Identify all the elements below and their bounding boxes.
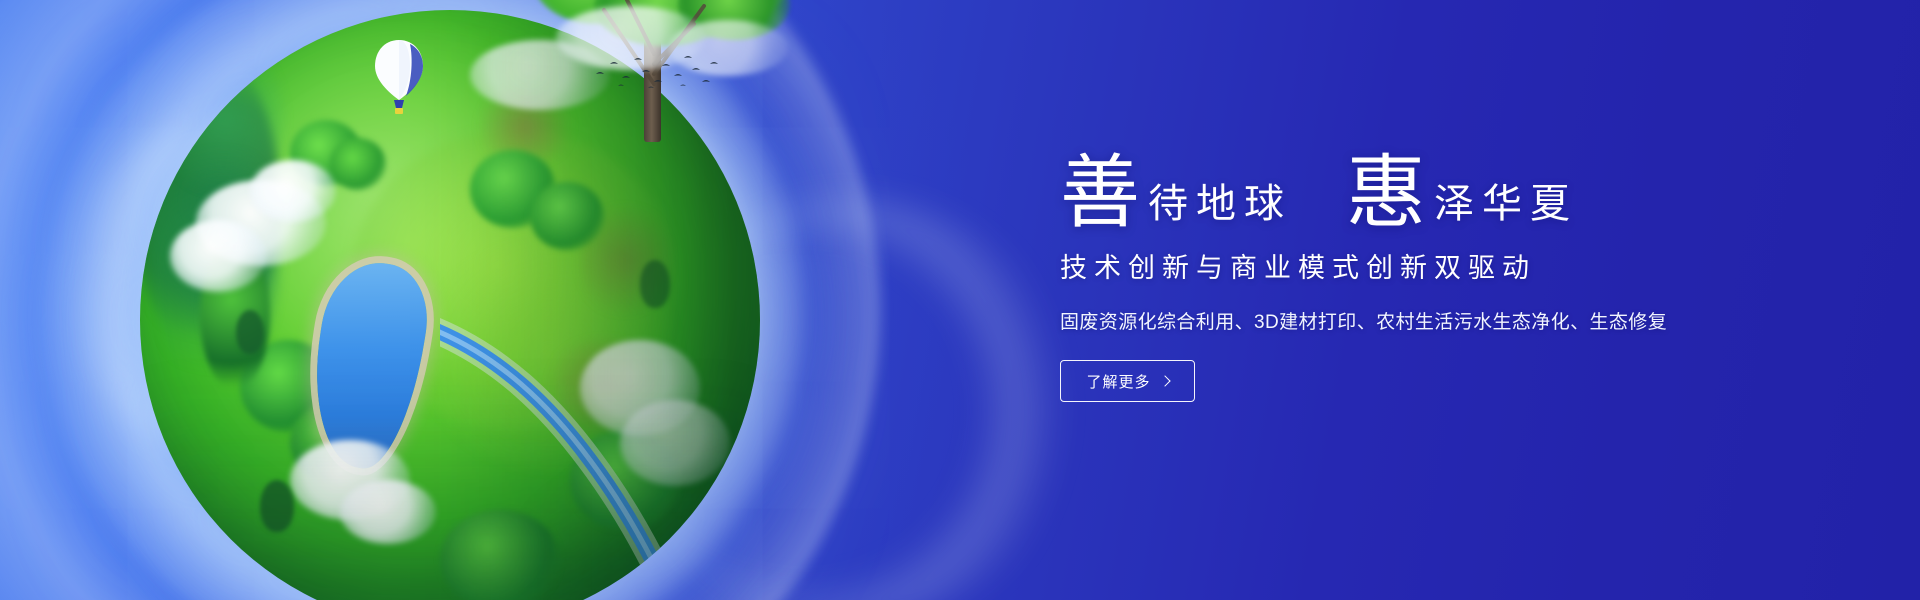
page-title: 善 待地球 惠 泽华夏: [1060, 140, 1780, 232]
headline-phrase2-big: 惠: [1346, 157, 1426, 232]
chevron-right-icon: [1159, 375, 1170, 386]
learn-more-button[interactable]: 了解更多: [1060, 360, 1195, 402]
headline-phrase2-small: 泽华夏: [1426, 184, 1578, 232]
learn-more-label: 了解更多: [1086, 371, 1150, 392]
hero-description: 固废资源化综合利用、3D建材打印、农村生活污水生态净化、生态修复: [1060, 307, 1780, 334]
headline-phrase1-small: 待地球: [1140, 184, 1292, 232]
hero-copy: 善 待地球 惠 泽华夏 技术创新与商业模式创新双驱动 固废资源化综合利用、3D建…: [1060, 140, 1780, 402]
hero-banner: 善 待地球 惠 泽华夏 技术创新与商业模式创新双驱动 固废资源化综合利用、3D建…: [0, 0, 1920, 600]
birds-flock-icon: [592, 52, 722, 96]
hero-subtitle: 技术创新与商业模式创新双驱动: [1060, 246, 1780, 285]
headline-phrase1-big: 善: [1060, 157, 1140, 232]
green-little-planet-icon: [140, 10, 760, 600]
hot-air-balloon-icon: [372, 38, 426, 124]
